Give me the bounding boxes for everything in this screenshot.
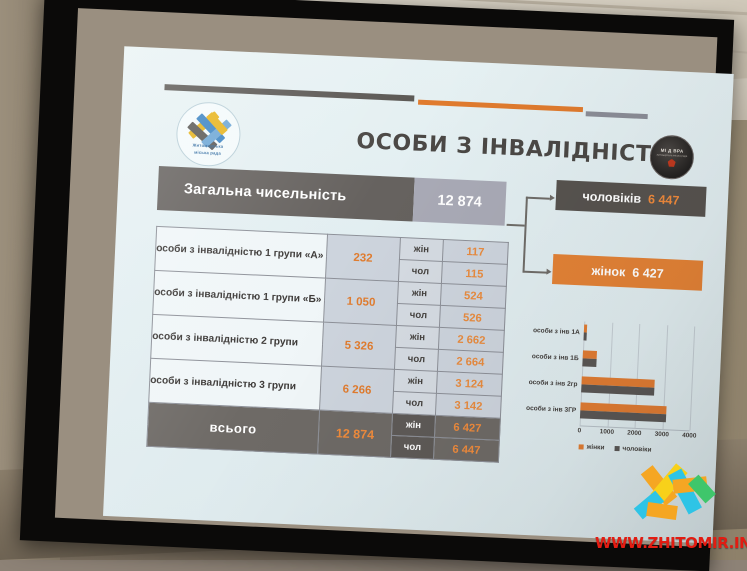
logo-caption: Житомирська міська рада [176,142,239,157]
total-row-value: 12 874 [318,410,393,457]
city-council-logo: Житомирська міська рада [175,101,242,168]
chart-bar-female [584,324,588,332]
chart-x-tick: 4000 [682,432,697,440]
total-row-female-value: 6 427 [434,415,500,440]
header-rule-gray-right [586,111,648,119]
women-summary-label: жінок [591,264,625,280]
slide-title: ОСОБИ З ІНВАЛІДНІСТЮ [352,129,683,169]
row-male-value: 526 [439,305,505,330]
women-summary-value: 6 427 [632,266,664,281]
chart-bar-male [583,332,587,340]
seal-emblem-icon [667,159,675,167]
row-female-label: жін [397,281,441,305]
row-female-label: жін [395,325,439,349]
seal-mid-text: житомирська міська рада [657,153,688,157]
screen-border: Житомирська міська рада ОСОБИ З ІНВАЛІДН… [55,8,717,547]
row-male-value: 115 [441,261,507,286]
men-summary-label: чоловіків [582,189,641,206]
disability-breakdown-table: особи з інвалідністю 1 групи «А» 232 жін… [146,226,509,463]
row-male-label: чол [394,347,438,371]
row-total-value: 6 266 [320,366,395,413]
row-total-value: 5 326 [322,322,397,369]
connector-arrow-men-icon [550,195,555,201]
total-row-male-value: 6 447 [433,437,499,462]
row-male-value: 2 664 [437,349,503,374]
header-rule-gray [164,84,414,101]
connector-line-bottom [523,271,547,274]
row-female-value: 3 124 [436,371,502,396]
wm-bar-orange3 [646,502,678,520]
row-female-value: 117 [442,239,508,264]
men-summary-value: 6 447 [648,192,680,207]
legend-swatch-female [579,444,584,449]
total-row-female-label: жін [391,413,435,437]
presentation-slide: Житомирська міська рада ОСОБИ З ІНВАЛІДН… [103,46,734,543]
total-row-label: всього [147,402,320,454]
women-summary-box: жінок 6 427 [552,254,703,291]
row-male-label: чол [396,303,440,327]
row-female-value: 2 662 [438,327,504,352]
legend-label-female: жінки [586,444,604,452]
seal-top-text: МІ Д ВРА [661,147,684,153]
chart-category-label: особи з інв 1А [510,326,580,336]
chart-bar-rows: особи з інв 1Аособи з інв 1Бособи з інв … [511,314,707,323]
header-rule-orange [418,100,583,112]
row-female-label: жін [399,238,443,262]
row-male-label: чол [398,259,442,283]
table-row: особи з інвалідністю 1 групи «А» 232 жін… [156,226,509,264]
legend-item-male: чоловіки [614,445,651,454]
chart-legend: жінки чоловіки [578,443,651,453]
total-row-male-label: чол [390,435,434,459]
chart-x-tick: 2000 [627,430,642,438]
legend-swatch-male [614,446,619,451]
total-headcount-value: 12 874 [413,178,507,226]
total-headcount-label: Загальна чисельність [157,166,415,222]
connector-bracket [503,184,556,298]
connector-line-in [507,224,525,226]
watermark-url: WWW.ZHITOMIR.INFO [595,534,747,552]
total-headcount-row: Загальна чисельність 12 874 [157,166,507,226]
disability-bar-chart: особи з інв 1Аособи з інв 1Бособи з інв … [504,314,707,471]
row-total-value: 1 050 [324,278,399,325]
men-summary-box: чоловіків 6 447 [555,180,706,217]
chart-x-tick: 0 [577,427,581,434]
row-category-label: особи з інвалідністю 2 групи [151,314,324,366]
row-category-label: особи з інвалідністю 1 групи «Б» [153,270,326,322]
chart-bar-male [582,358,597,367]
row-female-label: жін [393,369,437,393]
chart-category-label: особи з інв 2гр [507,378,577,388]
chart-category-label: особи з інв 1Б [509,352,579,362]
connector-line-top [526,197,550,200]
row-category-label: особи з інвалідністю 3 групи [149,358,322,410]
legend-item-female: жінки [578,443,604,451]
legend-label-male: чоловіки [622,445,651,453]
watermark: WWW.ZHITOMIR.INFOUA [595,472,745,558]
chart-x-tick: 3000 [655,431,670,439]
row-male-label: чол [392,391,436,415]
chart-x-tick: 1000 [600,428,615,436]
connector-arrow-women-icon [546,269,551,275]
row-category-label: особи з інвалідністю 1 групи «А» [155,226,328,278]
connector-line-vertical [522,197,527,273]
official-seal-badge: МІ Д ВРА житомирська міська рада [649,134,695,180]
chart-category-label: особи з інв 3ГР [506,404,576,414]
row-total-value: 232 [326,234,401,281]
watermark-logo-icon [633,474,719,528]
row-female-value: 524 [440,283,506,308]
watermark-text: WWW.ZHITOMIR.INFOUA [595,534,745,552]
row-male-value: 3 142 [435,393,501,418]
